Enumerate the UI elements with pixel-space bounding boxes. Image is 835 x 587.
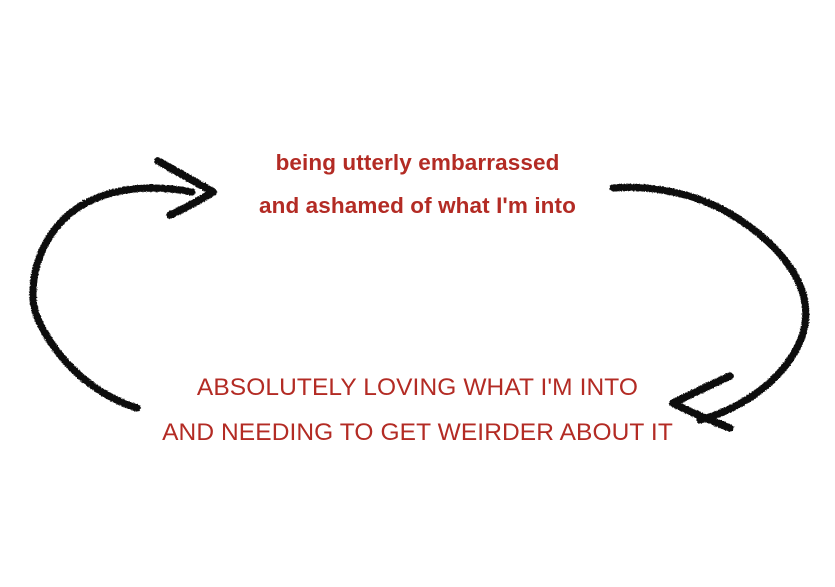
top-state-text: being utterly embarrassed and ashamed of…	[0, 152, 835, 217]
bottom-state-text: ABSOLUTELY LOVING WHAT I'M INTO AND NEED…	[0, 376, 835, 445]
bottom-text-line-2: AND NEEDING TO GET WEIRDER ABOUT IT	[0, 421, 835, 446]
top-text-line-2: and ashamed of what I'm into	[0, 195, 835, 218]
arrow-layer	[0, 0, 835, 587]
left-arrow-shaft	[33, 188, 192, 408]
meme-cycle-canvas: being utterly embarrassed and ashamed of…	[0, 0, 835, 587]
top-text-line-1: being utterly embarrassed	[0, 152, 835, 175]
bottom-text-line-1: ABSOLUTELY LOVING WHAT I'M INTO	[0, 376, 835, 401]
